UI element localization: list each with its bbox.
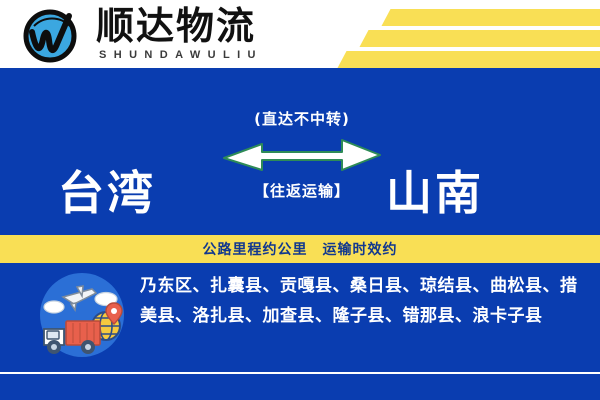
route-note-top: (直达不中转) [212, 108, 392, 129]
double-headed-arrow-icon [222, 136, 382, 176]
yellow-stripe-1 [381, 9, 600, 26]
logistics-truck-plane-globe-icon [30, 271, 134, 359]
info-bar-text: 公路里程约公里 运输时效约 [203, 239, 398, 259]
destination-city: 山南 [386, 157, 484, 223]
yellow-stripe-3 [337, 51, 600, 68]
company-name-cn: 顺达物流 [96, 4, 306, 48]
header-yellow-stripes [320, 0, 600, 68]
route-section: 台湾 (直达不中转) 【往返运输】 山南 [0, 68, 600, 235]
circle-swoosh-logo-icon [22, 6, 80, 64]
yellow-stripe-2 [359, 30, 600, 47]
destination-list: 乃东区、扎囊县、贡嘎县、桑日县、琼结县、曲松县、措美县、洛扎县、加查县、隆子县、… [140, 271, 588, 331]
route-middle: (直达不中转) 【往返运输】 [212, 106, 392, 226]
route-note-bottom: 【往返运输】 [212, 180, 392, 201]
logistics-route-banner: 顺达物流 SHUNDAWULIU 台湾 (直达不中转) 【往返运输】 山南 公路… [0, 0, 600, 400]
company-name-en: SHUNDAWULIU [96, 48, 306, 62]
banner-header: 顺达物流 SHUNDAWULIU [0, 0, 600, 68]
destinations-section: 乃东区、扎囊县、贡嘎县、桑日县、琼结县、曲松县、措美县、洛扎县、加查县、隆子县、… [0, 263, 600, 372]
banner-footer [0, 374, 600, 400]
info-bar: 公路里程约公里 运输时效约 [0, 235, 600, 263]
logo-text: 顺达物流 SHUNDAWULIU [96, 4, 306, 66]
origin-city: 台湾 [58, 157, 156, 223]
